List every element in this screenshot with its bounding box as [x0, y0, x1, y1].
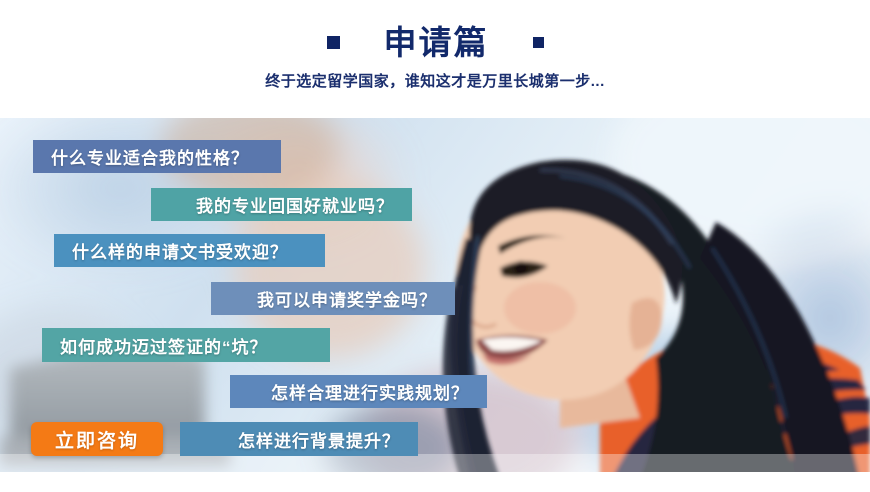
question-chip-7[interactable]: 怎样进行背景提升？ — [180, 422, 418, 456]
question-chip-4[interactable]: 我可以申请奖学金吗？ — [211, 282, 455, 315]
question-chip-5[interactable]: 如何成功迈过签证的“坑？ — [42, 328, 330, 362]
square-bullet-left-icon — [327, 36, 340, 49]
question-chip-7-label: 怎样进行背景提升？ — [238, 427, 400, 452]
question-chip-2[interactable]: 我的专业回国好就业吗？ — [151, 188, 412, 221]
question-chip-6[interactable]: 怎样合理进行实践规划？ — [230, 375, 487, 408]
question-chip-5-label: 如何成功迈过签证的“坑？ — [60, 333, 268, 358]
question-chip-3-label: 什么样的申请文书受欢迎？ — [72, 238, 288, 263]
question-chip-3[interactable]: 什么样的申请文书受欢迎？ — [54, 234, 325, 267]
question-chip-1[interactable]: 什么专业适合我的性格？ — [33, 140, 281, 173]
page-title: 申请篇 — [384, 26, 489, 59]
page-subtitle: 终于选定留学国家，谁知这才是万里长城第一步... — [0, 70, 870, 91]
consult-now-button-label: 立即咨询 — [55, 426, 139, 453]
hero-photo: 什么专业适合我的性格？ 我的专业回国好就业吗？ 什么样的申请文书受欢迎？ 我可以… — [0, 118, 870, 472]
consult-now-button[interactable]: 立即咨询 — [31, 422, 163, 456]
header: 申请篇 终于选定留学国家，谁知这才是万里长城第一步... — [0, 0, 870, 118]
title-row: 申请篇 — [0, 20, 870, 64]
question-chip-1-label: 什么专业适合我的性格？ — [51, 144, 249, 169]
question-chip-6-label: 怎样合理进行实践规划？ — [271, 379, 469, 404]
question-chip-4-label: 我可以申请奖学金吗？ — [257, 286, 437, 311]
footer-spacer — [0, 472, 870, 492]
question-chip-2-label: 我的专业回国好就业吗？ — [196, 192, 394, 217]
square-bullet-right-icon — [533, 37, 544, 48]
promo-banner: 申请篇 终于选定留学国家，谁知这才是万里长城第一步... — [0, 0, 870, 492]
